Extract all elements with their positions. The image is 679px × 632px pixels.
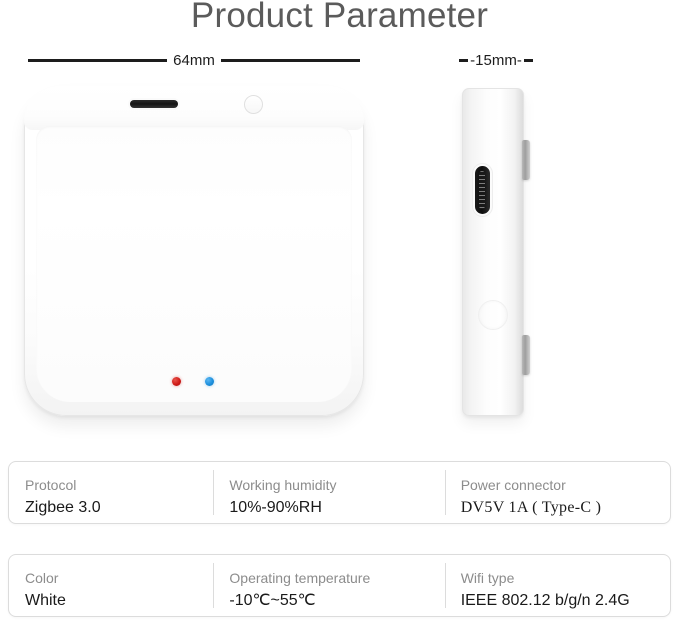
product-side-shell <box>462 88 524 416</box>
spec-value: -10℃~55℃ <box>229 589 444 613</box>
dimension-depth-rule-right <box>524 59 533 62</box>
spec-label: Protocol <box>25 476 213 495</box>
spec-label: Color <box>25 569 213 588</box>
spec-value: IEEE 802.12 b/g/n 2.4G <box>461 589 670 613</box>
spec-label: Wifi type <box>461 569 670 588</box>
tab-lower-icon <box>522 335 530 375</box>
speaker-slot-icon <box>130 100 178 108</box>
spec-cell-working-humidity: Working humidity 10%-90%RH <box>213 462 444 523</box>
dimension-width-rule-right <box>221 59 360 62</box>
spec-value: DV5V 1A ( Type-C ) <box>461 496 670 520</box>
circular-emboss-icon <box>478 300 508 330</box>
spec-label: Working humidity <box>229 476 444 495</box>
power-led-icon <box>172 377 181 386</box>
dimension-depth: -15mm- <box>448 49 544 71</box>
spec-label: Power connector <box>461 476 670 495</box>
dimension-width: 64mm <box>28 49 360 71</box>
spec-value: Zigbee 3.0 <box>25 496 213 520</box>
product-side-view <box>462 88 524 416</box>
product-front-top-strip <box>24 86 364 130</box>
network-led-icon <box>205 377 214 386</box>
dimension-depth-rule-left <box>459 59 468 62</box>
spec-label: Operating temperature <box>229 569 444 588</box>
reset-button-icon <box>244 95 263 114</box>
spec-value: White <box>25 589 213 613</box>
spec-cell-protocol: Protocol Zigbee 3.0 <box>9 462 213 523</box>
spec-value: 10%-90%RH <box>229 496 444 520</box>
spec-cell-wifi-type: Wifi type IEEE 802.12 b/g/n 2.4G <box>445 555 670 616</box>
tab-upper-icon <box>522 140 530 180</box>
dimension-depth-label: -15mm- <box>468 53 524 68</box>
usb-c-port-icon <box>475 166 490 214</box>
spec-cell-operating-temperature: Operating temperature -10℃~55℃ <box>213 555 444 616</box>
spec-cell-power-connector: Power connector DV5V 1A ( Type-C ) <box>445 462 670 523</box>
spec-row-1: Protocol Zigbee 3.0 Working humidity 10%… <box>8 461 671 524</box>
dimension-width-rule-left <box>28 59 167 62</box>
product-front-view <box>24 86 364 416</box>
product-front-face-panel <box>36 126 352 402</box>
page-title: Product Parameter <box>0 0 679 38</box>
spec-row-2: Color White Operating temperature -10℃~5… <box>8 554 671 617</box>
spec-cell-color: Color White <box>9 555 213 616</box>
dimension-width-label: 64mm <box>167 53 221 68</box>
